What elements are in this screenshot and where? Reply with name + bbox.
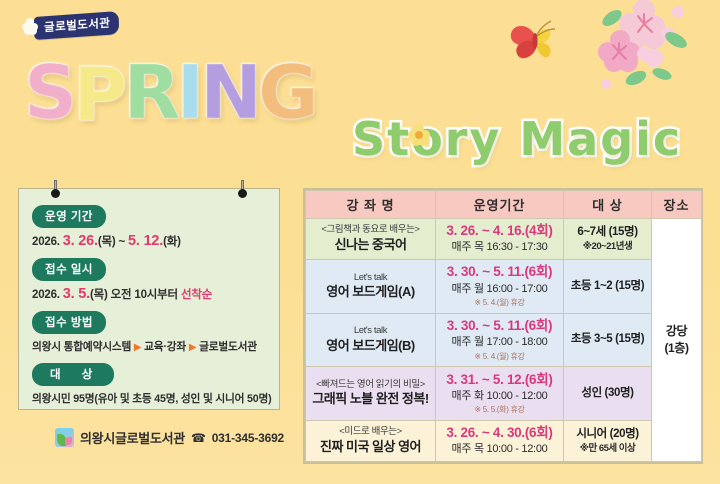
story-flower-icon	[408, 124, 430, 146]
course-subtitle: Let's talk	[309, 325, 432, 337]
period-schedule: 매주 월 17:00 - 18:00	[439, 335, 560, 350]
period-start: 3. 26.	[63, 233, 98, 249]
table-row: Let's talk 영어 보드게임(A) 3. 30. ~ 5. 11.(6회…	[306, 259, 702, 313]
library-logo-badge: 글로벌도서관	[22, 14, 119, 37]
cell-target: 초등 3~5 (15명)	[564, 313, 652, 367]
apply-date: 3. 5.	[63, 286, 90, 302]
place-floor: (1층)	[664, 341, 688, 355]
spring-letter-s: S	[24, 58, 75, 129]
table-row: <미드로 배우는> 진짜 미국 일상 영어 3. 26. ~ 4. 30.(6회…	[306, 421, 702, 462]
spring-letter-r: R	[124, 58, 179, 129]
course-subtitle: Let's talk	[309, 272, 432, 284]
cell-target: 초등 1~2 (15명)	[564, 259, 652, 313]
arrow-icon-2: ▶	[189, 342, 197, 353]
spring-letter-n: N	[200, 58, 260, 129]
table-header-row: 강 좌 명 운영기간 대 상 장소	[306, 191, 702, 219]
header-place: 장소	[652, 191, 702, 219]
apply-time: 오전 10시부터	[111, 289, 178, 301]
table-row: <빠져드는 영어 읽기의 비밀> 그래픽 노블 완전 정복! 3. 31. ~ …	[306, 367, 702, 421]
period-range: 3. 30. ~ 5. 11.(6회)	[439, 263, 560, 281]
period-schedule: 매주 화 10:00 - 12:00	[439, 389, 560, 404]
cell-target: 성인 (30명)	[564, 367, 652, 421]
period-separator: ~	[119, 236, 126, 248]
cell-place: 강당 (1층)	[652, 219, 702, 462]
cell-course-name: <미드로 배우는> 진짜 미국 일상 영어	[306, 421, 436, 462]
target-main: 시니어 (20명)	[567, 427, 648, 443]
course-table-wrapper: 강 좌 명 운영기간 대 상 장소 <그림책과 동요로 배우는> 신나는 중국어…	[303, 188, 703, 464]
spring-letter-g: G	[258, 58, 317, 129]
cell-course-name: Let's talk 영어 보드게임(A)	[306, 259, 436, 313]
footer-phone: 031-345-3692	[212, 431, 284, 445]
table-row: Let's talk 영어 보드게임(B) 3. 30. ~ 5. 11.(6회…	[306, 313, 702, 367]
period-end-day: (화)	[163, 236, 181, 248]
spring-letter-p: P	[73, 60, 125, 131]
period-schedule: 매주 월 16:00 - 17:00	[439, 282, 560, 297]
poster-canvas: 글로벌도서관	[0, 0, 720, 484]
target-tag: 대 상	[32, 363, 114, 386]
target-main: 초등 3~5 (15명)	[567, 332, 648, 348]
target-note: ※만 65세 이상	[567, 442, 648, 455]
phone-icon: ☎	[191, 431, 206, 445]
course-table: 강 좌 명 운영기간 대 상 장소 <그림책과 동요로 배우는> 신나는 중국어…	[305, 190, 702, 462]
period-range: 3. 26. ~ 4. 30.(6회)	[439, 424, 560, 442]
table-row: <그림책과 동요로 배우는> 신나는 중국어 3. 26. ~ 4. 16.(4…	[306, 219, 702, 260]
method-step-3: 글로벌도서관	[199, 341, 257, 353]
period-value: 2026. 3. 26.(목) ~ 5. 12.(화)	[32, 233, 267, 249]
course-subtitle: <미드로 배우는>	[309, 426, 432, 438]
apply-note: 선착순	[181, 289, 212, 301]
place-name: 강당	[666, 324, 687, 338]
cell-course-name: <빠져드는 영어 읽기의 비밀> 그래픽 노블 완전 정복!	[306, 367, 436, 421]
flower-icon	[22, 18, 38, 34]
footer-contact: 의왕시글로벌도서관 ☎ 031-345-3692	[55, 428, 284, 447]
arrow-icon-1: ▶	[134, 342, 142, 353]
apply-prefix: 2026.	[32, 289, 60, 301]
cell-period: 3. 30. ~ 5. 11.(6회) 매주 월 16:00 - 17:00 ※…	[436, 259, 564, 313]
cell-period: 3. 26. ~ 4. 16.(4회) 매주 목 16:30 - 17:30	[436, 219, 564, 260]
period-tag: 운영 기간	[32, 205, 106, 228]
butterfly-icon	[505, 16, 577, 68]
course-subtitle: <빠져드는 영어 읽기의 비밀>	[309, 379, 432, 391]
apply-value: 2026. 3. 5.(목) 오전 10시부터 선착순	[32, 286, 267, 302]
course-title: 영어 보드게임(B)	[309, 338, 432, 355]
cell-course-name: Let's talk 영어 보드게임(B)	[306, 313, 436, 367]
period-schedule: 매주 목 16:30 - 17:30	[439, 240, 560, 255]
target-value: 의왕시민 95명(유아 및 초등 45명, 성인 및 시니어 50명)	[32, 391, 267, 406]
course-title: 진짜 미국 일상 영어	[309, 439, 432, 456]
cell-target: 6~7세 (15명) ※20~21년생	[564, 219, 652, 260]
header-course-name: 강 좌 명	[306, 191, 436, 219]
pin-icon-right	[238, 180, 247, 200]
pin-icon-left	[51, 180, 60, 200]
cell-course-name: <그림책과 동요로 배우는> 신나는 중국어	[306, 219, 436, 260]
period-holiday-note: ※ 5. 4.(월) 휴강	[439, 297, 560, 309]
period-prefix: 2026.	[32, 236, 60, 248]
period-range: 3. 31. ~ 5. 12.(6회)	[439, 371, 560, 389]
method-value: 의왕시 통합예약시스템 ▶ 교육·강좌 ▶ 글로벌도서관	[32, 339, 267, 354]
period-range: 3. 30. ~ 5. 11.(6회)	[439, 317, 560, 335]
period-holiday-note: ※ 5. 4.(월) 휴강	[439, 351, 560, 363]
logo-label: 글로벌도서관	[34, 11, 120, 40]
period-schedule: 매주 목 10:00 - 12:00	[439, 442, 560, 457]
target-note: ※20~21년생	[567, 240, 648, 253]
spring-letter-i: I	[177, 58, 203, 129]
cell-period: 3. 30. ~ 5. 11.(6회) 매주 월 17:00 - 18:00 ※…	[436, 313, 564, 367]
course-title: 영어 보드게임(A)	[309, 284, 432, 301]
target-main: 6~7세 (15명)	[567, 225, 648, 241]
method-step-1: 의왕시 통합예약시스템	[32, 341, 131, 353]
method-step-2: 교육·강좌	[144, 341, 186, 353]
header-target: 대 상	[564, 191, 652, 219]
program-info-panel: 운영 기간 2026. 3. 26.(목) ~ 5. 12.(화) 접수 일시 …	[18, 188, 280, 410]
cherry-blossom-icon	[592, 0, 720, 98]
apply-tag: 접수 일시	[32, 258, 106, 281]
story-magic-title: Story Magic	[352, 112, 682, 166]
method-tag: 접수 방법	[32, 311, 106, 334]
course-title: 그래픽 노블 완전 정복!	[309, 391, 432, 408]
target-main: 성인 (30명)	[567, 386, 648, 402]
spring-title: S P R I N G	[24, 58, 315, 129]
apply-day: (목)	[90, 289, 108, 301]
period-range: 3. 26. ~ 4. 16.(4회)	[439, 222, 560, 240]
cell-target: 시니어 (20명) ※만 65세 이상	[564, 421, 652, 462]
target-main: 초등 1~2 (15명)	[567, 279, 648, 295]
header-period: 운영기간	[436, 191, 564, 219]
library-logo-icon	[55, 428, 74, 447]
course-title: 신나는 중국어	[309, 237, 432, 254]
footer-organization: 의왕시글로벌도서관	[80, 428, 185, 447]
period-end: 5. 12.	[128, 233, 163, 249]
period-holiday-note: ※ 5. 5.(화) 휴강	[439, 404, 560, 416]
period-start-day: (목)	[98, 236, 116, 248]
cell-period: 3. 31. ~ 5. 12.(6회) 매주 화 10:00 - 12:00 ※…	[436, 367, 564, 421]
cell-period: 3. 26. ~ 4. 30.(6회) 매주 목 10:00 - 12:00	[436, 421, 564, 462]
course-subtitle: <그림책과 동요로 배우는>	[309, 224, 432, 236]
